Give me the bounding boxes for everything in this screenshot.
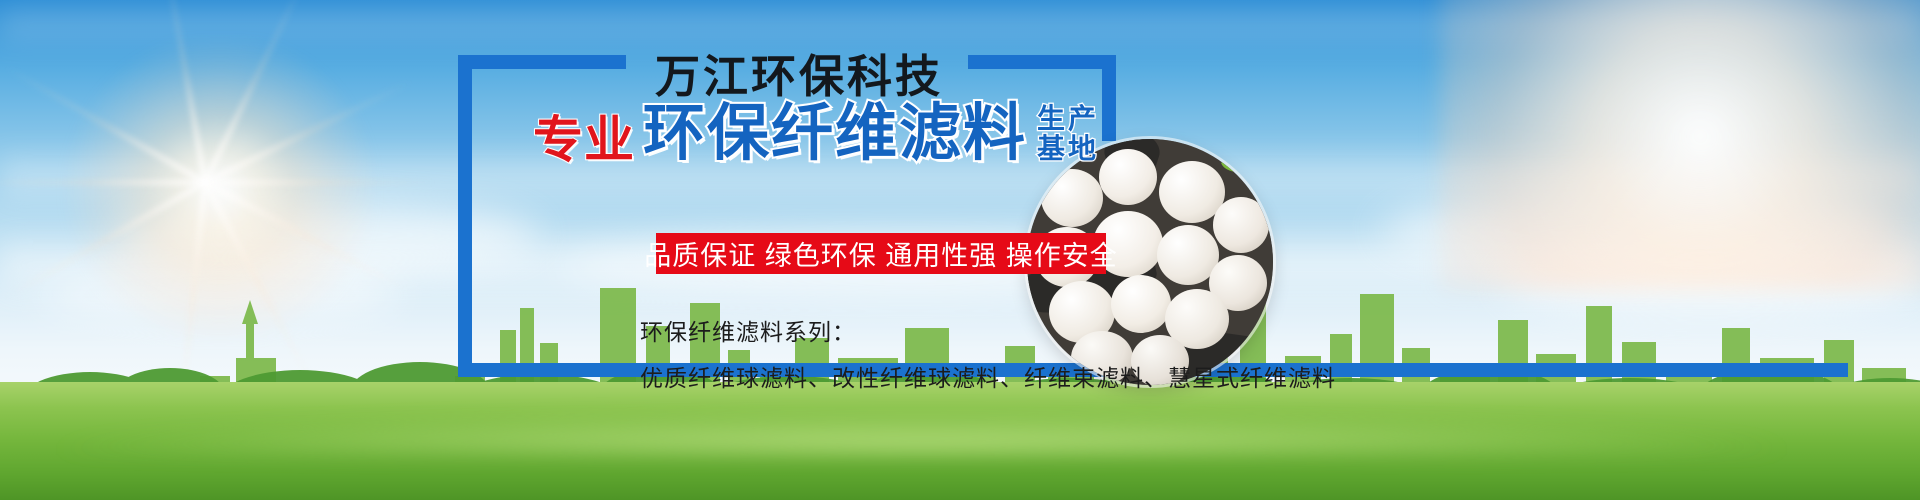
- grass-highlight: [0, 406, 1920, 452]
- headline: 专业 环保纤维滤料 生产 基地: [533, 103, 1099, 165]
- fiber-ball: [1041, 169, 1103, 227]
- fiber-ball: [1111, 275, 1171, 333]
- sun-ray: [205, 180, 435, 185]
- promo-banner: 万江环保科技 专业 环保纤维滤料 生产 基地 品质保证 绿色环保 通用性强 操作…: [0, 0, 1920, 500]
- headline-main: 环保纤维滤料: [643, 103, 1027, 165]
- slogan-bar: 品质保证 绿色环保 通用性强 操作安全: [656, 233, 1106, 274]
- fiber-ball: [1099, 149, 1157, 205]
- description-heading: 环保纤维滤料系列：: [640, 313, 856, 347]
- headline-prefix: 专业: [533, 115, 635, 165]
- sun-ray: [0, 180, 205, 185]
- frame-bar-right: [1102, 55, 1116, 141]
- frame-bar-top-left: [458, 55, 626, 69]
- description-products: 优质纤维球滤料、改性纤维球滤料、纤维束滤料、慧星式纤维滤料: [640, 359, 1336, 393]
- slogan-bar-text: 品质保证 绿色环保 通用性强 操作安全: [644, 234, 1118, 273]
- headline-suffix-line1: 生产: [1037, 104, 1099, 133]
- fiber-ball: [1213, 197, 1269, 253]
- headline-suffix: 生产 基地: [1037, 104, 1099, 163]
- page-title: 万江环保科技: [655, 40, 943, 105]
- headline-suffix-line2: 基地: [1037, 134, 1099, 163]
- frame-bar-top-right: [968, 55, 1116, 69]
